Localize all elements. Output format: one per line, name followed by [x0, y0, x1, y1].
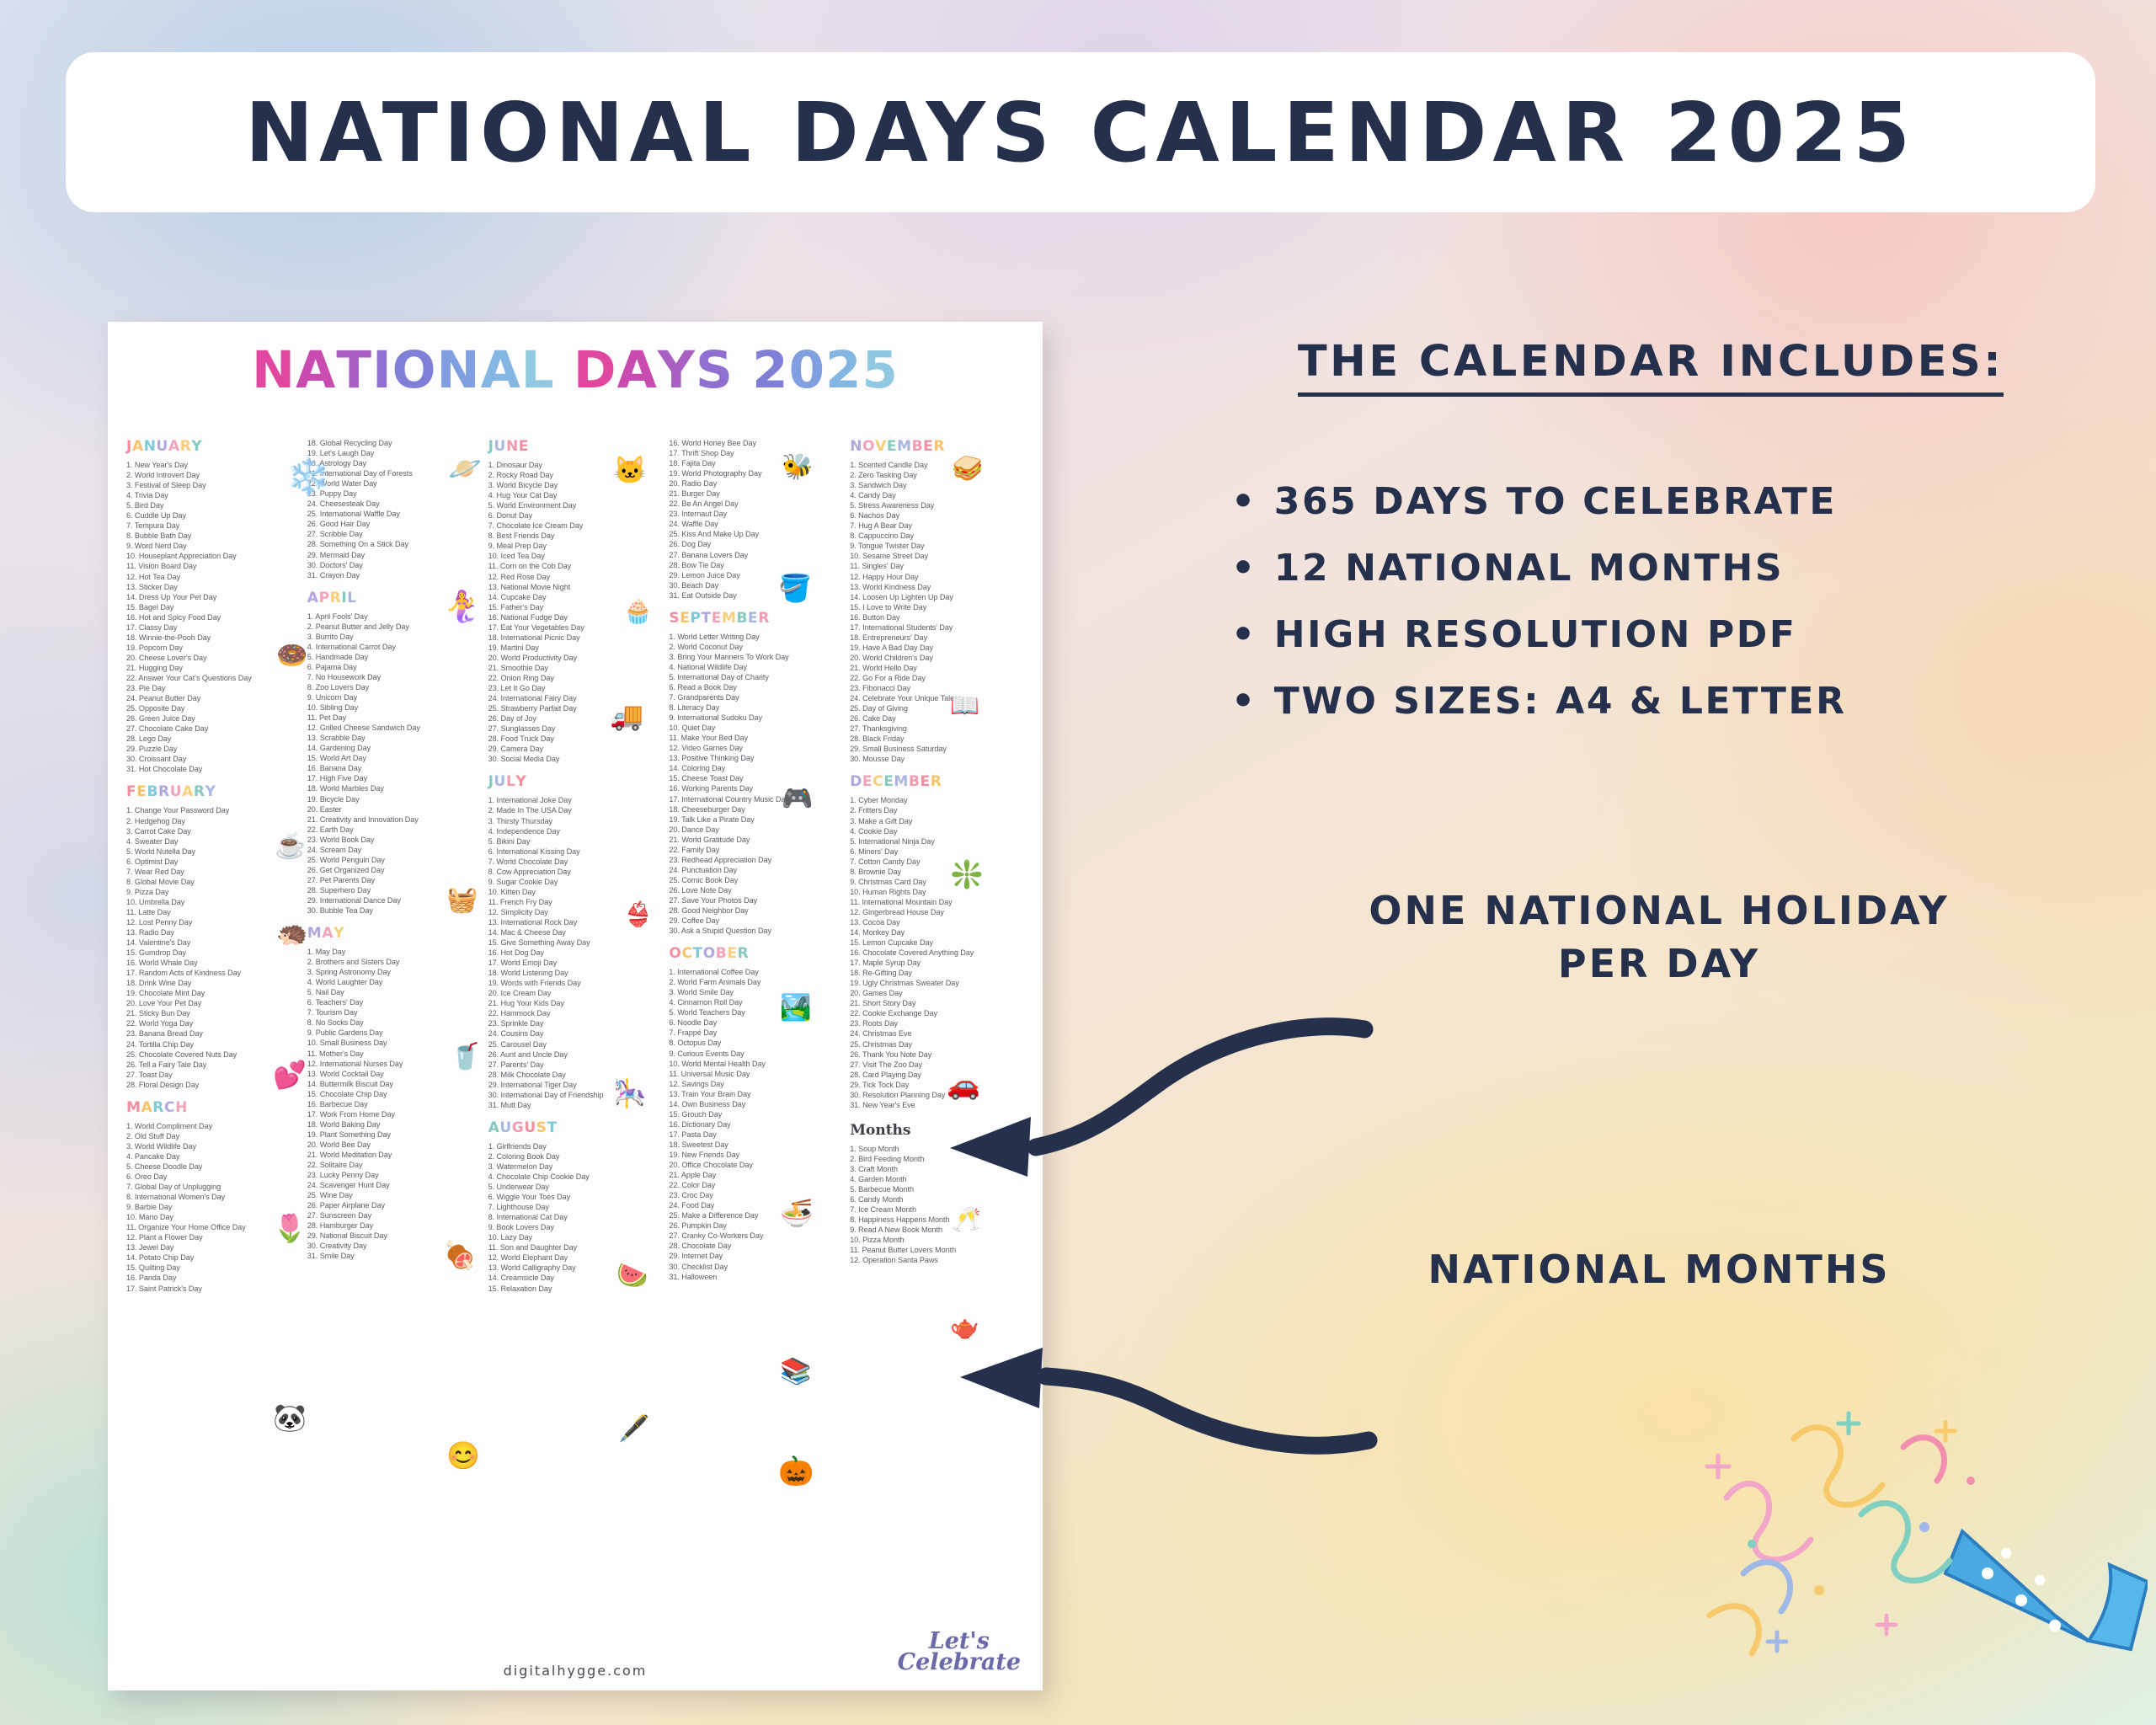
day-list-item: 5. Stress Awareness Day: [850, 500, 1027, 510]
callout-national-months: NATIONAL MONTHS: [1213, 1247, 2105, 1292]
day-list-item: 4. National Wildlife Day: [669, 662, 846, 672]
sheet-title-letter: O: [392, 340, 437, 400]
month-heading-may: MAY: [307, 925, 485, 942]
sheet-title-letter: I: [372, 340, 392, 400]
day-list-item: 12. Happy Hour Day: [850, 572, 1027, 582]
sheet-title-letter: N: [437, 340, 481, 400]
day-list-item: 8. Zoo Lovers Day: [307, 682, 485, 692]
day-list-item: 7. No Housework Day: [307, 672, 485, 682]
day-list-item: 21. Burger Day: [669, 489, 846, 499]
day-list-item: 7. Ice Cream Month: [850, 1204, 1027, 1215]
day-list-item: 27. Pet Parents Day: [307, 875, 485, 885]
day-list-item: 10. Human Rights Day: [850, 887, 1027, 897]
month-heading-letter: R: [330, 590, 342, 606]
day-list-item: 29. Tick Tock Day: [850, 1080, 1027, 1090]
day-list-item: 10. Mario Day: [126, 1212, 304, 1222]
day-list-item: 13. Jewel Day: [126, 1242, 304, 1252]
day-list-item: 21. International Day of Forests: [307, 468, 485, 478]
month-heading-letter: R: [180, 438, 192, 455]
day-list-item: 22. World Yoga Day: [126, 1018, 304, 1028]
day-list-item: 7. Chocolate Ice Cream Day: [488, 521, 666, 531]
day-list-item: 1. Change Your Password Day: [126, 805, 304, 815]
day-list-item: 28. Card Playing Day: [850, 1070, 1027, 1080]
day-list-item: 18. Drink Wine Day: [126, 978, 304, 988]
day-list-item: 16. Working Parents Day: [669, 783, 846, 793]
day-list-item: 14. Valentine's Day: [126, 937, 304, 948]
day-list-item: 26. Pumpkin Day: [669, 1220, 846, 1231]
day-list-item: 5. Cheese Doodle Day: [126, 1162, 304, 1172]
day-list-item: 2. Brothers and Sisters Day: [307, 957, 485, 967]
month-heading-letter: U: [499, 1119, 511, 1136]
month-heading-letter: E: [923, 438, 933, 455]
day-list-item: 30. Resolution Planning Day: [850, 1090, 1027, 1100]
day-list-item: 5. Handmade Day: [307, 652, 485, 662]
month-heading-letter: V: [875, 438, 887, 455]
day-list-item: 26. Dog Day: [669, 539, 846, 549]
day-list-item: 29. International Dance Day: [307, 895, 485, 905]
calendar-column: JANUARY1. New Year's Day2. World Introve…: [126, 438, 307, 1682]
day-list-april: 1. April Fools' Day2. Peanut Butter and …: [307, 611, 485, 916]
day-list-item: 6. Optimist Day: [126, 857, 304, 867]
day-list-march_a: 1. World Compliment Day2. Old Stuff Day3…: [126, 1121, 304, 1294]
month-heading-november: NOVEMBER: [850, 438, 1027, 455]
day-list-item: 27. Banana Lovers Day: [669, 550, 846, 560]
day-list-item: 17. High Five Day: [307, 773, 485, 783]
month-heading-letter: J: [488, 438, 494, 455]
day-list-item: 24. Peanut Butter Day: [126, 693, 304, 703]
day-list-item: 17. Work From Home Day: [307, 1109, 485, 1119]
confetti-popper-illustration: [1693, 1363, 2148, 1725]
day-list-item: 9. Unicorn Day: [307, 692, 485, 702]
feature-bullet: 12 NATIONAL MONTHS: [1231, 547, 2124, 590]
sheet-title-letter: 5: [862, 340, 899, 400]
day-list-item: 27. Thanksgiving: [850, 724, 1027, 734]
day-list-item: 25. World Penguin Day: [307, 855, 485, 865]
month-heading-letter: U: [170, 783, 182, 800]
day-list-item: 18. Global Recycling Day: [307, 438, 485, 448]
day-list-item: 4. World Laughter Day: [307, 977, 485, 987]
day-list-item: 2. Hedgehog Day: [126, 816, 304, 826]
day-list-item: 29. Camera Day: [488, 744, 666, 754]
day-list-item: 15. I Love to Write Day: [850, 602, 1027, 612]
day-list-item: 30. Doctors' Day: [307, 560, 485, 570]
month-heading-letter: B: [147, 783, 158, 800]
month-heading-letter: E: [727, 945, 737, 962]
includes-heading: THE CALENDAR INCLUDES:: [1213, 337, 2089, 387]
day-list-item: 13. Train Your Brain Day: [669, 1089, 846, 1099]
day-list-item: 25. Make a Difference Day: [669, 1210, 846, 1220]
sheet-title-letter: 0: [789, 340, 825, 400]
day-list-december: 1. Cyber Monday2. Fritters Day3. Make a …: [850, 795, 1027, 1109]
month-heading-letter: L: [347, 590, 356, 606]
day-list-item: 14. Gardening Day: [307, 743, 485, 753]
day-list-item: 19. Let's Laugh Day: [307, 448, 485, 458]
day-list-item: 5. International Day of Charity: [669, 672, 846, 682]
day-list-item: 2. World Coconut Day: [669, 642, 846, 652]
day-list-item: 28. Something On a Stick Day: [307, 539, 485, 549]
day-list-item: 1. World Letter Writing Day: [669, 632, 846, 642]
month-heading-letter: A: [182, 783, 194, 800]
sheet-title: NATIONAL DAYS 2025: [108, 340, 1043, 400]
day-list-item: 13. World Cocktail Day: [307, 1069, 485, 1079]
day-list-item: 7. Cotton Candy Day: [850, 857, 1027, 867]
day-list-item: 29. Puzzle Day: [126, 744, 304, 754]
day-list-item: 25. Opposite Day: [126, 703, 304, 713]
callout-one-line-2: PER DAY: [1213, 937, 2105, 991]
month-heading-letter: H: [175, 1099, 188, 1116]
month-heading-december: DECEMBER: [850, 773, 1027, 790]
day-list-item: 24. Scream Day: [307, 845, 485, 855]
month-heading-letter: M: [722, 610, 737, 627]
day-list-item: 6. Cuddle Up Day: [126, 510, 304, 521]
month-heading-letter: A: [168, 438, 180, 455]
day-list-item: 11. Latte Day: [126, 907, 304, 917]
day-list-item: 8. Literacy Day: [669, 702, 846, 713]
sheet-title-letter: D: [574, 340, 617, 400]
month-heading-letter: B: [716, 945, 728, 962]
day-list-item: 1. April Fools' Day: [307, 611, 485, 622]
day-list-item: 24. Waffle Day: [669, 519, 846, 529]
day-list-item: 23. Internaut Day: [669, 509, 846, 519]
day-list-item: 26. Day of Joy: [488, 713, 666, 724]
sheet-title-letter: A: [481, 340, 521, 400]
day-list-months: 1. Soup Month2. Bird Feeding Month3. Cra…: [850, 1144, 1027, 1266]
day-list-item: 10. Lazy Day: [488, 1232, 666, 1242]
day-list-item: 8. International Women's Day: [126, 1192, 304, 1202]
day-list-item: 6. International Kissing Day: [488, 846, 666, 857]
day-list-item: 12. Video Games Day: [669, 743, 846, 753]
sheet-title-space: [734, 340, 752, 400]
month-heading-letter: M: [897, 438, 912, 455]
day-list-item: 21. Smoothie Day: [488, 663, 666, 673]
day-list-item: 25. Wine Day: [307, 1190, 485, 1200]
month-heading-letter: Y: [334, 925, 344, 942]
day-list-item: 4. Sweater Day: [126, 836, 304, 846]
day-list-item: 14. Own Business Day: [669, 1099, 846, 1109]
day-list-item: 9. Pizza Day: [126, 887, 304, 897]
day-list-item: 21. Apple Day: [669, 1170, 846, 1180]
day-list-item: 1. Dinosaur Day: [488, 460, 666, 470]
day-list-item: 29. Internet Day: [669, 1251, 846, 1261]
sheet-title-letter: N: [252, 340, 296, 400]
day-list-item: 14. Cupcake Day: [488, 592, 666, 602]
day-list-item: 21. Short Story Day: [850, 998, 1027, 1008]
month-heading-letter: T: [693, 945, 703, 962]
day-list-item: 24. International Fairy Day: [488, 693, 666, 703]
month-heading-january: JANUARY: [126, 438, 304, 455]
month-heading-letter: R: [931, 773, 942, 790]
day-list-item: 2. Old Stuff Day: [126, 1131, 304, 1141]
day-list-item: 17. Maple Syrup Day: [850, 958, 1027, 968]
day-list-item: 11. Peanut Butter Lovers Month: [850, 1245, 1027, 1255]
day-list-item: 30. Beach Day: [669, 580, 846, 590]
day-list-item: 7. Tourism Day: [307, 1007, 485, 1017]
day-list-may: 1. May Day2. Brothers and Sisters Day3. …: [307, 947, 485, 1261]
sheet-title-letter: A: [617, 340, 658, 400]
day-list-item: 4. Cookie Day: [850, 826, 1027, 836]
month-heading-letter: A: [488, 1119, 500, 1136]
day-list-item: 19. Words with Friends Day: [488, 978, 666, 988]
day-list-item: 11. International Mountain Day: [850, 897, 1027, 907]
day-list-item: 27. Visit The Zoo Day: [850, 1060, 1027, 1070]
month-heading-letter: S: [669, 610, 680, 627]
day-list-item: 3. Bring Your Manners To Work Day: [669, 652, 846, 662]
day-list-item: 22. Be An Angel Day: [669, 499, 846, 509]
day-list-item: 31. Hot Chocolate Day: [126, 764, 304, 774]
day-list-item: 9. Tongue Twister Day: [850, 541, 1027, 551]
month-heading-letter: N: [850, 438, 862, 455]
day-list-item: 19. Talk Like a Pirate Day: [669, 814, 846, 825]
day-list-item: 13. Radio Day: [126, 927, 304, 937]
day-list-item: 23. Sprinkle Day: [488, 1018, 666, 1028]
day-list-item: 3. World Wildlife Day: [126, 1141, 304, 1151]
calendar-column: 16. World Honey Bee Day17. Thrift Shop D…: [669, 438, 850, 1682]
day-list-item: 18. Fajita Day: [669, 458, 846, 468]
day-list-item: 29. Small Business Saturday: [850, 744, 1027, 754]
day-list-item: 18. Entrepreneurs' Day: [850, 633, 1027, 643]
day-list-item: 22. Onion Ring Day: [488, 673, 666, 683]
day-list-item: 16. World Honey Bee Day: [669, 438, 846, 448]
day-list-january: 1. New Year's Day2. World Introvert Day3…: [126, 460, 304, 774]
day-list-item: 10. World Mental Health Day: [669, 1059, 846, 1069]
day-list-item: 9. Word Nerd Day: [126, 541, 304, 551]
day-list-item: 28. Superhero Day: [307, 885, 485, 895]
day-list-item: 17. Classy Day: [126, 622, 304, 633]
day-list-item: 15. Give Something Away Day: [488, 937, 666, 948]
month-heading-february: FEBRUARY: [126, 783, 304, 800]
day-list-item: 24. Cheesesteak Day: [307, 499, 485, 509]
month-heading-letter: P: [690, 610, 701, 627]
month-heading-letter: R: [152, 1099, 164, 1116]
day-list-item: 21. World Hello Day: [850, 663, 1027, 673]
day-list-item: 14. Creamsicle Day: [488, 1273, 666, 1283]
day-list-item: 6. Read a Book Day: [669, 682, 846, 692]
day-list-item: 11. French Fry Day: [488, 897, 666, 907]
day-list-item: 18. World Baking Day: [307, 1119, 485, 1130]
day-list-item: 26. Good Hair Day: [307, 519, 485, 529]
day-list-item: 4. Chocolate Chip Cookie Day: [488, 1172, 666, 1182]
day-list-item: 3. World Smile Day: [669, 987, 846, 997]
day-list-item: 4. Hug Your Cat Day: [488, 490, 666, 500]
day-list-item: 12. Grilled Cheese Sandwich Day: [307, 723, 485, 733]
day-list-item: 16. Hot Dog Day: [488, 948, 666, 958]
day-list-item: 26. Tell a Fairy Tale Day: [126, 1060, 304, 1070]
month-heading-letter: R: [158, 783, 170, 800]
day-list-item: 17. Random Acts of Kindness Day: [126, 968, 304, 978]
day-list-item: 18. International Picnic Day: [488, 633, 666, 643]
day-list-item: 23. World Book Day: [307, 835, 485, 845]
day-list-september: 1. World Letter Writing Day2. World Coco…: [669, 632, 846, 936]
day-list-item: 8. Happiness Happens Month: [850, 1215, 1027, 1225]
day-list-item: 28. Milk Chocolate Day: [488, 1070, 666, 1080]
day-list-item: 27. Sunscreen Day: [307, 1210, 485, 1220]
day-list-item: 19. Plant Something Day: [307, 1130, 485, 1140]
day-list-item: 15. Gumdrop Day: [126, 948, 304, 958]
day-list-item: 9. Public Gardens Day: [307, 1028, 485, 1038]
day-list-item: 17. International Country Music Day: [669, 794, 846, 804]
day-list-item: 16. Chocolate Covered Anything Day: [850, 948, 1027, 958]
day-list-item: 7. Wear Red Day: [126, 867, 304, 877]
day-list-item: 12. Savings Day: [669, 1079, 846, 1089]
day-list-item: 14. Loosen Up Lighten Up Day: [850, 592, 1027, 602]
sheet-title-letter: L: [521, 340, 555, 400]
day-list-item: 19. Popcorn Day: [126, 643, 304, 653]
day-list-item: 20. Cheese Lover's Day: [126, 653, 304, 663]
calendar-column: 18. Global Recycling Day19. Let's Laugh …: [307, 438, 488, 1682]
month-heading-letter: A: [132, 438, 144, 455]
day-list-item: 25. Christmas Day: [850, 1039, 1027, 1049]
day-list-item: 2. Made In The USA Day: [488, 805, 666, 815]
day-list-item: 10. Quiet Day: [669, 723, 846, 733]
day-list-item: 27. Parents' Day: [488, 1060, 666, 1070]
day-list-item: 5. Bird Day: [126, 500, 304, 510]
day-list-item: 3. Sandwich Day: [850, 480, 1027, 490]
day-list-item: 30. Checklist Day: [669, 1262, 846, 1272]
day-list-item: 22. Cookie Exchange Day: [850, 1008, 1027, 1018]
feature-bullet-list: 365 DAYS TO CELEBRATE12 NATIONAL MONTHSH…: [1231, 480, 2124, 746]
calendar-column: JUNE1. Dinosaur Day2. Rocky Road Day3. W…: [488, 438, 670, 1682]
day-list-item: 18. Cheeseburger Day: [669, 804, 846, 814]
sheet-title-space: [555, 340, 574, 400]
day-list-item: 24. Food Day: [669, 1200, 846, 1210]
month-heading-letter: E: [887, 438, 897, 455]
day-list-item: 23. Banana Bread Day: [126, 1028, 304, 1039]
day-list-item: 8. Cow Appreciation Day: [488, 867, 666, 877]
day-list-item: 26. Cake Day: [850, 713, 1027, 724]
day-list-item: 11. Vision Board Day: [126, 561, 304, 571]
day-list-item: 22. Go For a Ride Day: [850, 673, 1027, 683]
day-list-item: 7. World Chocolate Day: [488, 857, 666, 867]
day-list-item: 12. Hot Tea Day: [126, 572, 304, 582]
day-list-item: 15. World Art Day: [307, 753, 485, 763]
day-list-item: 5. World Environment Day: [488, 500, 666, 510]
day-list-item: 9. Meal Prep Day: [488, 541, 666, 551]
day-list-item: 21. Sticky Bun Day: [126, 1008, 304, 1018]
day-list-item: 16. Panda Day: [126, 1273, 304, 1283]
callout-one-holiday-per-day: ONE NATIONAL HOLIDAY PER DAY: [1213, 884, 2105, 991]
day-list-item: 28. Chocolate Day: [669, 1241, 846, 1251]
day-list-item: 20. Love Your Pet Day: [126, 998, 304, 1008]
day-list-item: 20. Dance Day: [669, 825, 846, 835]
month-heading-letter: E: [712, 610, 722, 627]
month-heading-letter: N: [506, 438, 519, 455]
month-heading-august_a: AUGUST: [488, 1119, 666, 1136]
day-list-item: 30. International Day of Friendship: [488, 1090, 666, 1100]
day-list-item: 26. Aunt and Uncle Day: [488, 1049, 666, 1060]
day-list-item: 23. Croc Day: [669, 1190, 846, 1200]
day-list-item: 21. Hug Your Kids Day: [488, 998, 666, 1008]
day-list-item: 13. International Rock Day: [488, 917, 666, 927]
day-list-item: 17. International Students' Day: [850, 622, 1027, 633]
sheet-title-letter: T: [336, 340, 372, 400]
includes-heading-text: THE CALENDAR INCLUDES:: [1298, 337, 2004, 397]
day-list-item: 13. World Kindness Day: [850, 582, 1027, 592]
month-heading-letter: G: [512, 1119, 525, 1136]
day-list-item: 8. No Socks Day: [307, 1017, 485, 1028]
day-list-item: 1. Soup Month: [850, 1144, 1027, 1154]
day-list-item: 15. Grouch Day: [669, 1109, 846, 1119]
day-list-item: 12. International Nurses Day: [307, 1059, 485, 1069]
month-heading-letter: Y: [515, 773, 526, 790]
day-list-item: 11. Singles' Day: [850, 561, 1027, 571]
title-banner: NATIONAL DAYS CALENDAR 2025: [66, 52, 2095, 212]
day-list-item: 11. Make Your Bed Day: [669, 733, 846, 743]
day-list-item: 29. Coffee Day: [669, 916, 846, 926]
day-list-item: 17. Saint Patrick's Day: [126, 1284, 304, 1294]
day-list-item: 5. Bikini Day: [488, 836, 666, 846]
day-list-item: 22. World Water Day: [307, 478, 485, 489]
day-list-item: 19. World Photography Day: [669, 468, 846, 478]
feature-bullet: 365 DAYS TO CELEBRATE: [1231, 480, 2124, 523]
day-list-item: 29. Mermaid Day: [307, 550, 485, 560]
day-list-item: 12. World Elephant Day: [488, 1252, 666, 1263]
calendar-columns: JANUARY1. New Year's Day2. World Introve…: [126, 438, 1031, 1682]
day-list-item: 19. Martini Day: [488, 643, 666, 653]
month-heading-letter: N: [144, 438, 157, 455]
day-list-item: 22. Family Day: [669, 845, 846, 855]
day-list-item: 8. Global Movie Day: [126, 877, 304, 887]
day-list-item: 9. Curious Events Day: [669, 1049, 846, 1059]
day-list-item: 6. Pajama Day: [307, 662, 485, 672]
day-list-item: 10. Sesame Street Day: [850, 551, 1027, 561]
day-list-item: 14. Monkey Day: [850, 927, 1027, 937]
month-heading-letter: B: [909, 773, 921, 790]
day-list-item: 15. Bagel Day: [126, 602, 304, 612]
day-list-item: 28. Hamburger Day: [307, 1220, 485, 1231]
day-list-item: 31. Smile Day: [307, 1251, 485, 1261]
day-list-item: 5. Underwear Day: [488, 1182, 666, 1192]
month-heading-letter: E: [136, 783, 147, 800]
day-list-item: 4. Pancake Day: [126, 1151, 304, 1162]
day-list-item: 8. Cappuccino Day: [850, 531, 1027, 541]
day-list-item: 27. Scribble Day: [307, 529, 485, 539]
day-list-item: 10. Kitten Day: [488, 887, 666, 897]
day-list-item: 26. Paper Airplane Day: [307, 1200, 485, 1210]
day-list-item: 20. Office Chocolate Day: [669, 1160, 846, 1170]
day-list-item: 11. Organize Your Home Office Day: [126, 1222, 304, 1232]
day-list-item: 1. World Compliment Day: [126, 1121, 304, 1131]
day-list-item: 3. Spring Astronomy Day: [307, 967, 485, 977]
month-heading-letter: L: [506, 773, 515, 790]
day-list-item: 13. Positive Thinking Day: [669, 753, 846, 763]
day-list-item: 28. Food Truck Day: [488, 734, 666, 744]
day-list-item: 8. Best Friends Day: [488, 531, 666, 541]
day-list-item: 9. International Sudoku Day: [669, 713, 846, 723]
day-list-item: 25. Strawberry Parfait Day: [488, 703, 666, 713]
day-list-item: 27. Chocolate Cake Day: [126, 724, 304, 734]
day-list-july: 1. International Joke Day2. Made In The …: [488, 795, 666, 1109]
day-list-item: 2. Peanut Butter and Jelly Day: [307, 622, 485, 632]
day-list-item: 15. Relaxation Day: [488, 1284, 666, 1294]
day-list-item: 16. Dictionary Day: [669, 1119, 846, 1130]
day-list-item: 1. Girlfriends Day: [488, 1141, 666, 1151]
month-heading-july: JULY: [488, 773, 666, 790]
month-heading-letter: O: [669, 945, 681, 962]
day-list-item: 18. Re-Gifting Day: [850, 968, 1027, 978]
day-list-item: 30. Mousse Day: [850, 754, 1027, 764]
sheet-title-letter: S: [696, 340, 734, 400]
day-list-february: 1. Change Your Password Day2. Hedgehog D…: [126, 805, 304, 1089]
day-list-item: 4. Trivia Day: [126, 490, 304, 500]
day-list-item: 3. World Bicycle Day: [488, 480, 666, 490]
day-list-item: 21. Hugging Day: [126, 663, 304, 673]
day-list-item: 13. Sticker Day: [126, 582, 304, 592]
day-list-item: 4. Cinnamon Roll Day: [669, 997, 846, 1007]
month-heading-letter: M: [894, 773, 909, 790]
day-list-item: 1. New Year's Day: [126, 460, 304, 470]
day-list-item: 24. Punctuation Day: [669, 865, 846, 875]
day-list-item: 11. Pet Day: [307, 713, 485, 723]
